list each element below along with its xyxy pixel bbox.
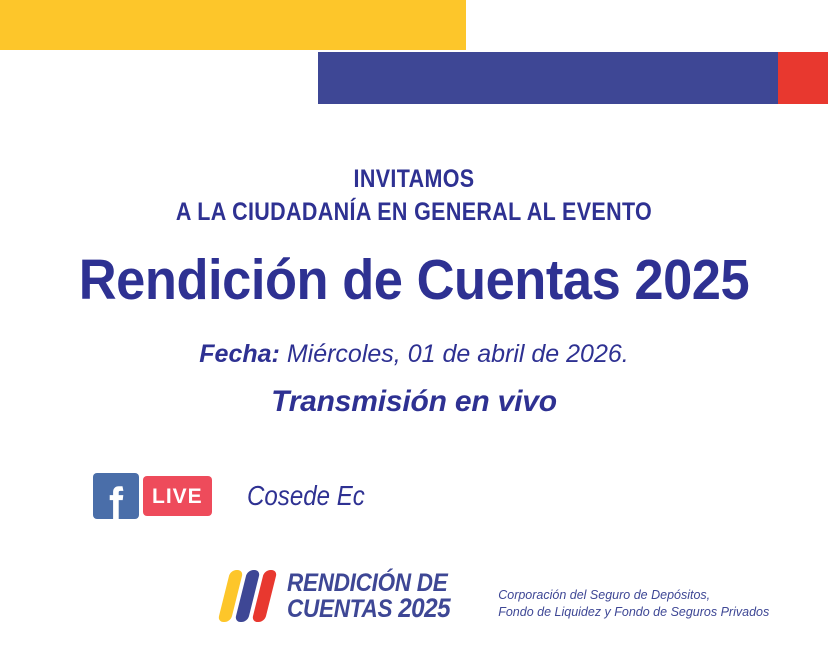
facebook-f-icon[interactable] bbox=[93, 473, 139, 519]
invitation-line-2: A LA CIUDADANÍA EN GENERAL AL EVENTO bbox=[58, 196, 770, 229]
logo-wordmark: RENDICIÓN DE CUENTAS 2025 bbox=[287, 570, 468, 622]
organization-line-1: Corporación del Seguro de Depósitos, bbox=[498, 587, 769, 604]
logo-line-2: CUENTAS 2025 bbox=[287, 596, 450, 622]
facebook-live-row[interactable]: LIVE Cosede Ec bbox=[93, 473, 384, 519]
date-label: Fecha: bbox=[199, 340, 280, 368]
event-date: Fecha: Miércoles, 01 de abril de 2026. bbox=[0, 338, 828, 370]
decorative-bar-red bbox=[778, 52, 828, 104]
organization-line-2: Fondo de Liquidez y Fondo de Seguros Pri… bbox=[498, 604, 769, 621]
rendicion-logo: RENDICIÓN DE CUENTAS 2025 bbox=[222, 570, 468, 622]
footer-block: RENDICIÓN DE CUENTAS 2025 Corporación de… bbox=[222, 570, 769, 622]
facebook-handle[interactable]: Cosede Ec bbox=[247, 480, 365, 512]
poster-canvas: INVITAMOS A LA CIUDADANÍA EN GENERAL AL … bbox=[0, 0, 828, 655]
invitation-line-1: INVITAMOS bbox=[58, 163, 770, 196]
live-badge-label: LIVE bbox=[152, 486, 203, 507]
broadcast-heading: Transmisión en vivo bbox=[0, 383, 828, 421]
live-badge[interactable]: LIVE bbox=[143, 476, 212, 516]
decorative-bar-yellow bbox=[0, 0, 466, 50]
logo-year: 2025 bbox=[398, 593, 450, 623]
date-value: Miércoles, 01 de abril de 2026. bbox=[287, 340, 629, 368]
logo-line-2-text: CUENTAS bbox=[287, 595, 392, 623]
event-title: Rendición de Cuentas 2025 bbox=[33, 248, 795, 312]
decorative-bar-blue bbox=[318, 52, 779, 104]
organization-name: Corporación del Seguro de Depósitos, Fon… bbox=[498, 571, 769, 621]
logo-flag-bars-icon bbox=[222, 570, 284, 622]
invitation-heading: INVITAMOS A LA CIUDADANÍA EN GENERAL AL … bbox=[58, 163, 770, 229]
